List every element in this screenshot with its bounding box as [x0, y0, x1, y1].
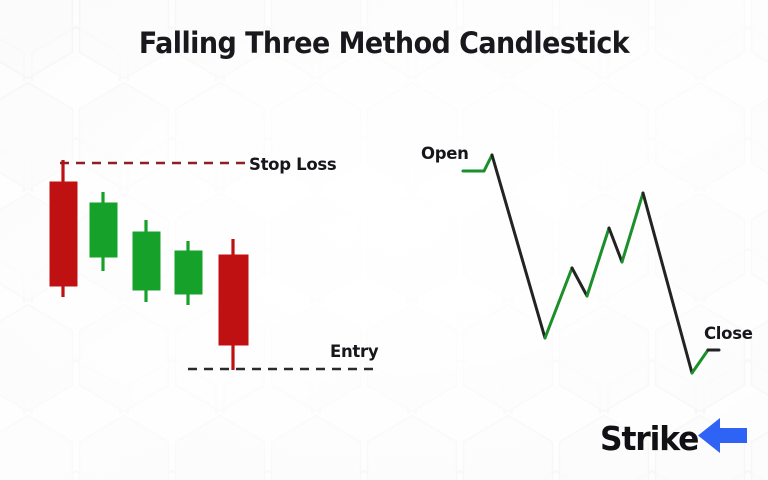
open-label: Open: [421, 144, 469, 163]
line-segment-10: [692, 350, 708, 373]
line-segment-3: [492, 155, 545, 338]
candle-series: [50, 160, 248, 370]
infographic-canvas: Falling Three Method Candlestick Stop Lo…: [0, 0, 768, 480]
line-segment-6: [587, 228, 609, 296]
left-arrow-icon: [690, 418, 748, 454]
entry-label: Entry: [330, 342, 378, 361]
candlestick-chart: [0, 110, 400, 410]
line-segment-7: [609, 228, 622, 262]
brand-name: Strike: [600, 419, 698, 458]
candle-2-bullish: [90, 192, 117, 271]
candle-1-bearish: [50, 160, 77, 297]
stop-loss-label: Stop Loss: [249, 155, 336, 174]
candle-4-bullish: [175, 241, 202, 305]
line-segment-9: [643, 193, 692, 373]
line-segment-8: [622, 193, 643, 262]
close-label: Close: [704, 324, 753, 343]
page-title: Falling Three Method Candlestick: [27, 26, 741, 60]
candle-5-bearish: [219, 239, 248, 370]
line-segment-5: [572, 268, 587, 296]
price-path: [463, 155, 719, 373]
brand-logo: Strike: [600, 412, 750, 458]
line-segment-2: [484, 155, 492, 171]
line-segment-4: [545, 268, 572, 338]
candle-3-bullish: [133, 220, 160, 302]
